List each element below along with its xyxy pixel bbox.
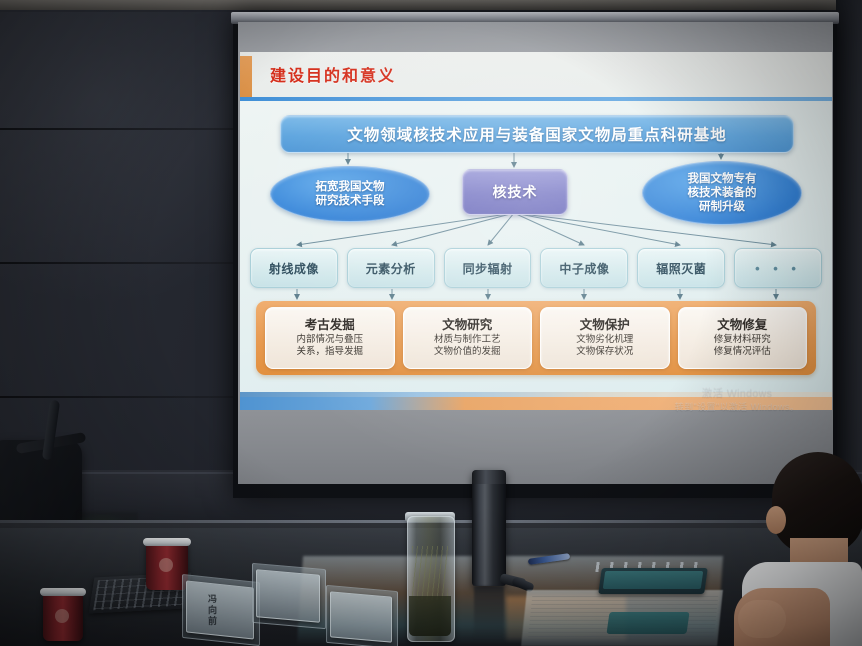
diagram-node-core: 核技术 bbox=[462, 169, 568, 215]
diagram-node-left-label: 拓宽我国文物 研究技术手段 bbox=[316, 180, 385, 208]
tag-irradiation-sterilization[interactable]: 辐照灭菌 bbox=[637, 248, 725, 288]
tablet-screen bbox=[603, 571, 704, 589]
attendee-hand bbox=[738, 600, 786, 638]
tag-element-analysis[interactable]: 元素分析 bbox=[347, 248, 435, 288]
card-heading: 考古发掘 bbox=[305, 318, 355, 333]
tag-label: 中子成像 bbox=[559, 260, 609, 277]
diagram-node-right-label: 我国文物专有 核技术装备的 研制升级 bbox=[688, 172, 757, 214]
slide-accent-bar bbox=[240, 56, 252, 98]
name-placard bbox=[256, 569, 320, 623]
tag-synchrotron-radiation[interactable]: 同步辐射 bbox=[444, 248, 532, 288]
cup-logo bbox=[159, 558, 173, 572]
application-band: 考古发掘 内部情况与叠压 关系，指导发掘 文物研究 材质与制作工艺 文物价值的发… bbox=[256, 301, 816, 375]
tag-xray-imaging[interactable]: 射线成像 bbox=[250, 248, 338, 288]
tag-label: 辐照灭菌 bbox=[656, 260, 706, 277]
tag-neutron-imaging[interactable]: 中子成像 bbox=[540, 248, 628, 288]
slide-body: 文物领域核技术应用与装备国家文物局重点科研基地 拓宽我国文物 研究技术手段 核技… bbox=[240, 101, 832, 397]
card-heading: 文物研究 bbox=[442, 318, 492, 333]
tag-more-ellipsis[interactable]: • • • bbox=[734, 248, 822, 288]
conference-room-scene: 建设目的和意义 bbox=[0, 0, 862, 646]
card-detail: 材质与制作工艺 文物价值的发掘 bbox=[434, 334, 501, 358]
cup-logo bbox=[55, 609, 69, 623]
name-placard bbox=[330, 591, 392, 642]
coffee-cup-lid bbox=[40, 588, 86, 596]
thermos-bottle bbox=[472, 470, 506, 586]
presentation-slide: 建设目的和意义 bbox=[240, 52, 832, 410]
name-placard-text: 冯向前 bbox=[206, 594, 219, 627]
tag-label: 元素分析 bbox=[366, 260, 416, 277]
card-relic-restoration[interactable]: 文物修复 修复材料研究 修复情况评估 bbox=[678, 307, 808, 369]
tag-label: 射线成像 bbox=[269, 260, 319, 277]
name-placard bbox=[186, 580, 254, 639]
card-detail: 文物劣化机理 文物保存状况 bbox=[576, 334, 633, 358]
coffee-cup bbox=[43, 593, 83, 641]
diagram-header-label: 文物领域核技术应用与装备国家文物局重点科研基地 bbox=[347, 123, 727, 145]
thermos-reflection bbox=[474, 586, 504, 638]
tag-label: 同步辐射 bbox=[463, 260, 513, 277]
coffee-cup-lid bbox=[143, 538, 191, 546]
tag-label: • • • bbox=[755, 261, 801, 276]
card-detail: 修复材料研究 修复情况评估 bbox=[714, 334, 771, 358]
diagram-node-left: 拓宽我国文物 研究技术手段 bbox=[270, 166, 430, 222]
attendee-ear bbox=[766, 506, 786, 534]
tea-leaves bbox=[412, 546, 448, 600]
card-heading: 文物修复 bbox=[717, 318, 767, 333]
tea-sediment bbox=[409, 596, 451, 636]
slide-footer-bar bbox=[240, 397, 832, 410]
card-archaeological-excavation[interactable]: 考古发掘 内部情况与叠压 关系，指导发掘 bbox=[265, 307, 395, 369]
diagram-node-right: 我国文物专有 核技术装备的 研制升级 bbox=[642, 161, 802, 225]
slide-title: 建设目的和意义 bbox=[270, 62, 396, 86]
phone-device[interactable] bbox=[606, 612, 689, 634]
technology-tag-row: 射线成像 元素分析 同步辐射 中子成像 辐照灭菌 • • • bbox=[250, 247, 822, 289]
thermos-cap bbox=[472, 470, 506, 484]
card-relic-research[interactable]: 文物研究 材质与制作工艺 文物价值的发掘 bbox=[403, 307, 533, 369]
card-detail: 内部情况与叠压 关系，指导发掘 bbox=[296, 334, 363, 358]
diagram-node-core-label: 核技术 bbox=[493, 182, 538, 202]
projection-blank-area bbox=[238, 410, 833, 484]
card-heading: 文物保护 bbox=[580, 318, 630, 333]
card-relic-protection[interactable]: 文物保护 文物劣化机理 文物保存状况 bbox=[540, 307, 670, 369]
diagram-header-node: 文物领域核技术应用与装备国家文物局重点科研基地 bbox=[280, 115, 794, 153]
